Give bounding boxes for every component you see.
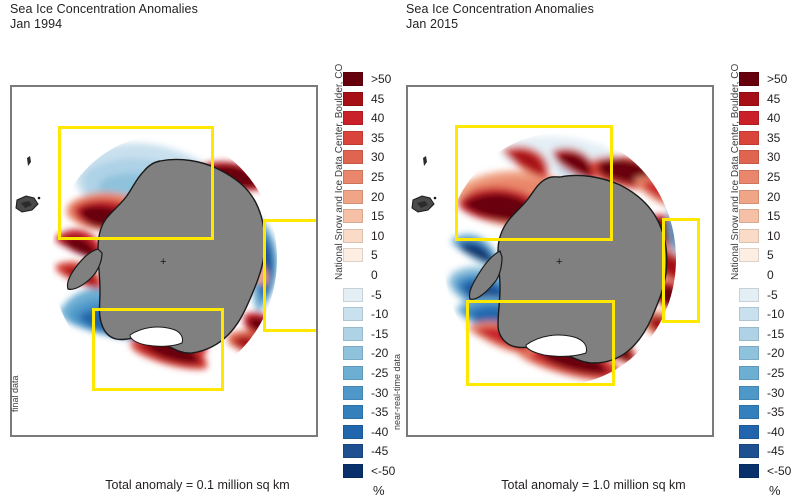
southern-islands-left — [12, 140, 52, 250]
colorbar-label-left-8: 10 — [371, 229, 384, 243]
colorbar-label-right-13: -15 — [767, 327, 784, 341]
colorbar-entry-left-7: 15 — [343, 207, 395, 227]
colorbar-swatch-left-11 — [343, 288, 363, 302]
colorbar-swatch-left-18 — [343, 425, 363, 439]
colorbar-swatch-right-7 — [739, 209, 759, 223]
colorbar-entry-left-17: -35 — [343, 403, 395, 423]
colorbar-swatch-right-20 — [739, 464, 759, 478]
colorbar-label-right-4: 30 — [767, 150, 780, 164]
colorbar-swatch-right-3 — [739, 131, 759, 145]
colorbar-swatch-left-16 — [343, 386, 363, 400]
colorbar-entry-right-19: -45 — [739, 442, 791, 462]
colorbar-entry-right-5: 25 — [739, 168, 791, 188]
colorbar-swatch-left-7 — [343, 209, 363, 223]
colorbar-swatch-right-10 — [739, 268, 759, 282]
colorbar-label-right-6: 20 — [767, 190, 780, 204]
colorbar-swatch-right-0 — [739, 72, 759, 86]
colorbar-entry-right-18: -40 — [739, 423, 791, 443]
east-antarctic-box-left[interactable] — [263, 219, 318, 332]
map-frame-right[interactable]: + — [406, 85, 714, 437]
colorbar-label-left-4: 30 — [371, 150, 384, 164]
colorbar-entry-right-1: 45 — [739, 90, 791, 110]
colorbar-swatch-left-13 — [343, 327, 363, 341]
colorbar-swatch-left-19 — [343, 444, 363, 458]
total-anomaly-right: Total anomaly = 1.0 million sq km — [396, 478, 791, 492]
colorbar-swatch-right-13 — [739, 327, 759, 341]
colorbar-swatch-left-4 — [343, 150, 363, 164]
colorbar-entry-right-6: 20 — [739, 188, 791, 208]
southern-islands-right — [408, 140, 448, 250]
map-frame-left[interactable]: + — [10, 85, 318, 437]
colorbar-swatch-left-12 — [343, 307, 363, 321]
colorbar-swatch-left-0 — [343, 72, 363, 86]
colorbar-swatch-right-15 — [739, 366, 759, 380]
page-title-right: Sea Ice Concentration Anomalies Jan 2015 — [406, 2, 594, 32]
colorbar-entry-left-6: 20 — [343, 188, 395, 208]
colorbar-swatch-right-17 — [739, 405, 759, 419]
colorbar-entry-left-2: 40 — [343, 109, 395, 129]
colorbar-label-left-11: -5 — [371, 288, 382, 302]
south-pole-marker: + — [556, 256, 562, 268]
colorbar-label-right-18: -40 — [767, 425, 784, 439]
colorbar-entry-right-17: -35 — [739, 403, 791, 423]
panel-right: Sea Ice Concentration Anomalies Jan 2015 — [396, 0, 791, 498]
colorbar-label-right-2: 40 — [767, 111, 780, 125]
colorbar-swatch-right-12 — [739, 307, 759, 321]
colorbar-label-right-1: 45 — [767, 92, 780, 106]
colorbar-swatch-right-8 — [739, 229, 759, 243]
colorbar-entry-right-10: 0 — [739, 266, 791, 286]
colorbar-right[interactable]: >50454035302520151050-5-10-15-20-25-30-3… — [739, 70, 791, 498]
ross-amundsen-box-left[interactable] — [92, 308, 224, 391]
weddell-bellingshausen-box-left[interactable] — [58, 126, 214, 240]
colorbar-entry-left-8: 10 — [343, 227, 395, 247]
colorbar-entry-left-12: -10 — [343, 305, 395, 325]
colorbar-entry-left-16: -30 — [343, 384, 395, 404]
colorbar-entry-right-8: 10 — [739, 227, 791, 247]
colorbar-label-right-17: -35 — [767, 405, 784, 419]
colorbar-swatch-left-3 — [343, 131, 363, 145]
colorbar-label-left-17: -35 — [371, 405, 388, 419]
colorbar-swatch-right-18 — [739, 425, 759, 439]
colorbar-entry-right-12: -10 — [739, 305, 791, 325]
page-title-left: Sea Ice Concentration Anomalies Jan 1994 — [10, 2, 198, 32]
weddell-bellingshausen-box-right[interactable] — [455, 125, 613, 241]
south-pole-marker: + — [160, 256, 166, 268]
colorbar-swatch-right-5 — [739, 170, 759, 184]
colorbar-label-right-9: 5 — [767, 248, 774, 262]
colorbar-label-left-14: -20 — [371, 346, 388, 360]
colorbar-label-left-7: 15 — [371, 209, 384, 223]
colorbar-swatch-right-6 — [739, 190, 759, 204]
colorbar-swatch-left-2 — [343, 111, 363, 125]
colorbar-entry-left-10: 0 — [343, 266, 395, 286]
colorbar-entry-right-3: 35 — [739, 129, 791, 149]
colorbar-label-right-12: -10 — [767, 307, 784, 321]
colorbar-swatch-left-6 — [343, 190, 363, 204]
colorbar-label-left-9: 5 — [371, 248, 378, 262]
colorbar-label-right-7: 15 — [767, 209, 780, 223]
colorbar-entry-right-13: -15 — [739, 325, 791, 345]
colorbar-swatch-left-20 — [343, 464, 363, 478]
colorbar-swatch-left-10 — [343, 268, 363, 282]
colorbar-label-right-16: -30 — [767, 386, 784, 400]
colorbar-entry-left-9: 5 — [343, 246, 395, 266]
colorbar-label-right-14: -20 — [767, 346, 784, 360]
colorbar-label-right-11: -5 — [767, 288, 778, 302]
colorbar-entry-left-11: -5 — [343, 286, 395, 306]
colorbar-swatch-left-9 — [343, 248, 363, 262]
colorbar-entry-left-13: -15 — [343, 325, 395, 345]
ross-amundsen-box-right[interactable] — [466, 300, 615, 386]
colorbar-entry-left-5: 25 — [343, 168, 395, 188]
colorbar-swatch-left-1 — [343, 92, 363, 106]
colorbar-label-left-2: 40 — [371, 111, 384, 125]
colorbar-label-right-0: >50 — [767, 72, 787, 86]
colorbar-label-left-5: 25 — [371, 170, 384, 184]
colorbar-label-right-19: -45 — [767, 444, 784, 458]
colorbar-entry-left-14: -20 — [343, 344, 395, 364]
colorbar-swatch-right-9 — [739, 248, 759, 262]
colorbar-label-left-6: 20 — [371, 190, 384, 204]
colorbar-swatch-right-14 — [739, 346, 759, 360]
colorbar-label-right-20: <-50 — [767, 464, 791, 478]
colorbar-label-left-19: -45 — [371, 444, 388, 458]
colorbar-entry-right-9: 5 — [739, 246, 791, 266]
colorbar-swatch-right-19 — [739, 444, 759, 458]
colorbar-label-right-15: -25 — [767, 366, 784, 380]
colorbar-entry-right-14: -20 — [739, 344, 791, 364]
east-antarctic-box-right[interactable] — [662, 218, 700, 323]
colorbar-entry-right-4: 30 — [739, 148, 791, 168]
total-anomaly-left: Total anomaly = 0.1 million sq km — [0, 478, 395, 492]
data-status-right: near-real-time data — [392, 354, 402, 430]
colorbar-entry-left-4: 30 — [343, 148, 395, 168]
colorbar-label-right-10: 0 — [767, 268, 774, 282]
colorbar-entry-left-15: -25 — [343, 364, 395, 384]
colorbar-swatch-left-17 — [343, 405, 363, 419]
colorbar-label-right-5: 25 — [767, 170, 780, 184]
colorbar-swatch-left-8 — [343, 229, 363, 243]
colorbar-label-left-0: >50 — [371, 72, 391, 86]
colorbar-entry-left-19: -45 — [343, 442, 395, 462]
colorbar-swatch-left-15 — [343, 366, 363, 380]
colorbar-entry-right-15: -25 — [739, 364, 791, 384]
colorbar-entry-left-1: 45 — [343, 90, 395, 110]
colorbar-entry-right-0: >50 — [739, 70, 791, 90]
colorbar-label-right-8: 10 — [767, 229, 780, 243]
colorbar-label-left-18: -40 — [371, 425, 388, 439]
colorbar-swatch-left-14 — [343, 346, 363, 360]
colorbar-swatch-right-4 — [739, 150, 759, 164]
colorbar-label-left-10: 0 — [371, 268, 378, 282]
colorbar-entry-right-11: -5 — [739, 286, 791, 306]
colorbar-entry-left-3: 35 — [343, 129, 395, 149]
colorbar-label-left-13: -15 — [371, 327, 388, 341]
colorbar-entry-right-7: 15 — [739, 207, 791, 227]
colorbar-entry-right-16: -30 — [739, 384, 791, 404]
colorbar-swatch-right-1 — [739, 92, 759, 106]
colorbar-entry-left-0: >50 — [343, 70, 395, 90]
colorbar-entry-left-18: -40 — [343, 423, 395, 443]
data-status-left: final data — [10, 375, 20, 412]
colorbar-swatch-right-11 — [739, 288, 759, 302]
colorbar-swatch-right-16 — [739, 386, 759, 400]
colorbar-label-left-1: 45 — [371, 92, 384, 106]
colorbar-entry-right-2: 40 — [739, 109, 791, 129]
colorbar-label-left-15: -25 — [371, 366, 388, 380]
colorbar-left[interactable]: >50454035302520151050-5-10-15-20-25-30-3… — [343, 70, 395, 498]
colorbar-label-left-12: -10 — [371, 307, 388, 321]
colorbar-swatch-left-5 — [343, 170, 363, 184]
panel-left: Sea Ice Concentration Anomalies Jan 1994 — [0, 0, 395, 498]
colorbar-swatch-right-2 — [739, 111, 759, 125]
colorbar-label-left-20: <-50 — [371, 464, 395, 478]
colorbar-label-left-3: 35 — [371, 131, 384, 145]
colorbar-label-right-3: 35 — [767, 131, 780, 145]
colorbar-label-left-16: -30 — [371, 386, 388, 400]
